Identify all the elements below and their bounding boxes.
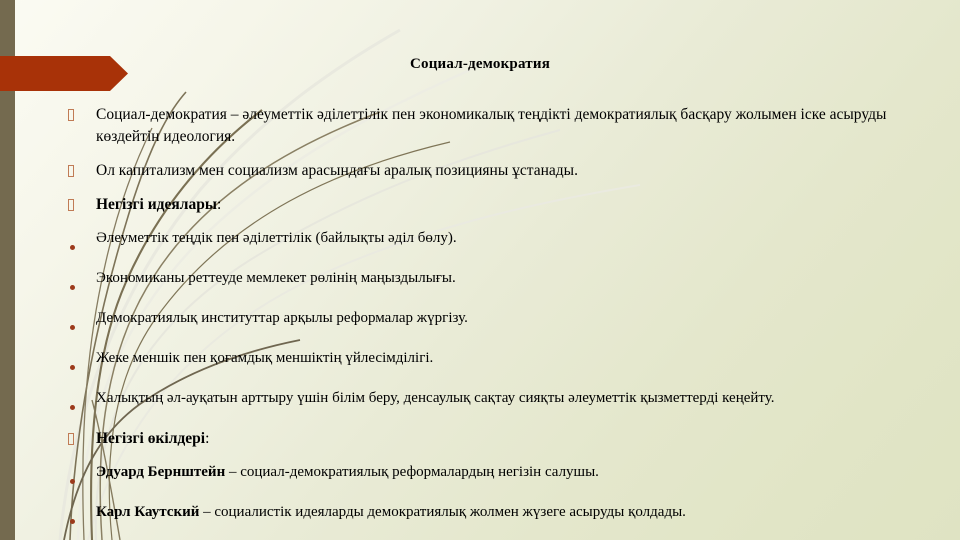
sub-bullet-text: Экономиканы реттеуде мемлекет рөлінің ма… <box>96 268 946 289</box>
bullet-marker-icon <box>62 160 96 182</box>
sub-bullet-dot-icon <box>62 502 96 529</box>
sub-bullet-item: Жеке меншік пен қоғамдық меншіктің үйлес… <box>62 348 946 375</box>
sub-bullet-item: Әлеуметтік теңдік пен әділеттілік (байлы… <box>62 228 946 255</box>
sub-bullet-text: Эдуард Бернштейн – социал-демократиялық … <box>96 462 946 483</box>
sub-bullet-item: Демократиялық институттар арқылы реформа… <box>62 308 946 335</box>
person-description: – социалистік идеяларды демократиялық жо… <box>199 504 686 520</box>
sub-bullet-dot-icon <box>62 228 96 255</box>
sub-bullet-dot-icon <box>62 268 96 295</box>
sub-bullet-text: Жеке меншік пен қоғамдық меншіктің үйлес… <box>96 348 946 369</box>
bullet-marker-icon <box>62 428 96 450</box>
bullet-text-heading: Негізгі идеялары: <box>96 194 946 216</box>
sub-bullet-item: Карл Каутский – социалистік идеяларды де… <box>62 502 946 529</box>
presentation-slide: Социал-демократия Социал-демократия – әл… <box>0 0 960 540</box>
bullet-item: Ол капитализм мен социализм арасындағы а… <box>62 160 946 182</box>
bullet-text: Ол капитализм мен социализм арасындағы а… <box>96 160 946 182</box>
sub-bullet-dot-icon <box>62 462 96 489</box>
sub-bullet-item: Экономиканы реттеуде мемлекет рөлінің ма… <box>62 268 946 295</box>
heading-strong: Негізгі идеялары <box>96 196 217 213</box>
sub-bullet-text: Халықтың әл-ауқатын арттыру үшін білім б… <box>96 388 946 409</box>
heading-rest: : <box>217 196 221 213</box>
person-name: Эдуард Бернштейн <box>96 464 225 480</box>
sub-bullet-dot-icon <box>62 348 96 375</box>
sub-bullet-text: Әлеуметтік теңдік пен әділеттілік (байлы… <box>96 228 946 249</box>
bullet-text-heading: Негізгі өкілдері: <box>96 428 946 450</box>
sub-bullet-dot-icon <box>62 308 96 335</box>
heading-strong: Негізгі өкілдері <box>96 430 205 447</box>
heading-rest: : <box>205 430 209 447</box>
slide-title: Социал-демократия <box>0 56 960 73</box>
bullet-marker-icon <box>62 104 96 126</box>
sub-bullet-item: Эдуард Бернштейн – социал-демократиялық … <box>62 462 946 489</box>
bullet-item: Социал-демократия – әлеуметтік әділеттіл… <box>62 104 946 148</box>
person-name: Карл Каутский <box>96 504 199 520</box>
bullet-item-heading: Негізгі өкілдері: <box>62 428 946 450</box>
sub-bullet-dot-icon <box>62 388 96 415</box>
person-description: – социал-демократиялық реформалардың нег… <box>225 464 599 480</box>
bullet-marker-icon <box>62 194 96 216</box>
sub-bullet-text: Демократиялық институттар арқылы реформа… <box>96 308 946 329</box>
sub-bullet-text: Карл Каутский – социалистік идеяларды де… <box>96 502 946 523</box>
bullet-item-heading: Негізгі идеялары: <box>62 194 946 216</box>
bullet-text: Социал-демократия – әлеуметтік әділеттіл… <box>96 104 946 148</box>
sub-bullet-item: Халықтың әл-ауқатын арттыру үшін білім б… <box>62 388 946 415</box>
slide-body: Социал-демократия – әлеуметтік әділеттіл… <box>62 104 946 540</box>
